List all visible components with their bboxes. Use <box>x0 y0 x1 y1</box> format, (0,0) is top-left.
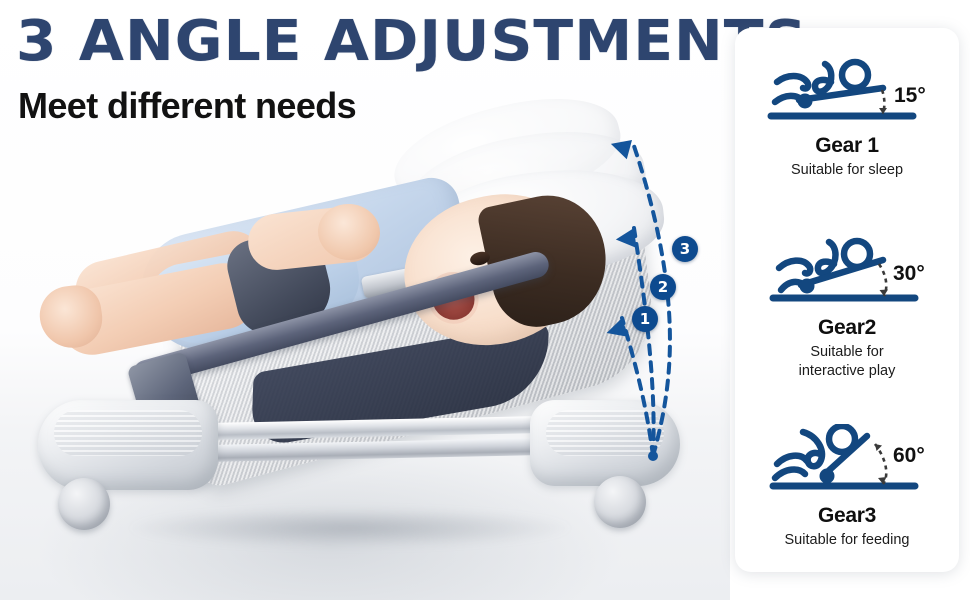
foot-ridges-left <box>54 410 202 456</box>
gear-angle-label-2: 30° <box>893 262 925 285</box>
hip-pivot-dot <box>820 469 835 484</box>
gear-name-3: Gear3 <box>818 504 876 528</box>
gear-card-2[interactable]: 30° Gear2 Suitable for interactive play <box>735 236 959 381</box>
gear-desc-2: Suitable for interactive play <box>799 343 896 381</box>
infographic-root: 3 ANGLE ADJUSTMENTS Meet different needs <box>0 0 970 600</box>
gear-name-1: Gear 1 <box>815 134 879 158</box>
product-photo <box>0 100 730 600</box>
recline-60-degree-icon: 60° <box>763 424 931 496</box>
gear-angle-label-3: 60° <box>893 444 925 467</box>
gear-card-1[interactable]: 15° Gear 1 Suitable for sleep <box>735 54 959 180</box>
page-title: 3 ANGLE ADJUSTMENTS <box>16 12 808 72</box>
gear-angle-label-1: 15° <box>894 84 926 107</box>
base-foot-right <box>530 400 680 486</box>
recline-15-degree-icon: 15° <box>763 54 931 126</box>
motion-badge-3: 3 <box>672 236 698 262</box>
gear-card-3[interactable]: 60° Gear3 Suitable for feeding <box>735 424 959 550</box>
recline-30-degree-icon: 30° <box>763 236 931 308</box>
hip-pivot-dot <box>798 94 813 109</box>
caster-wheel-right <box>594 476 646 528</box>
gear-name-2: Gear2 <box>818 316 876 340</box>
motion-badge-2: 2 <box>650 274 676 300</box>
base-foot-left <box>38 400 218 490</box>
gear-panel: 15° Gear 1 Suitable for sleep 30° <box>735 28 959 572</box>
foot-ridges-right <box>546 410 664 456</box>
motion-badge-1: 1 <box>632 306 658 332</box>
gear-desc-1: Suitable for sleep <box>791 161 903 180</box>
caster-wheel-left <box>58 478 110 530</box>
gear-desc-3: Suitable for feeding <box>785 531 910 550</box>
hip-pivot-dot <box>800 279 815 294</box>
